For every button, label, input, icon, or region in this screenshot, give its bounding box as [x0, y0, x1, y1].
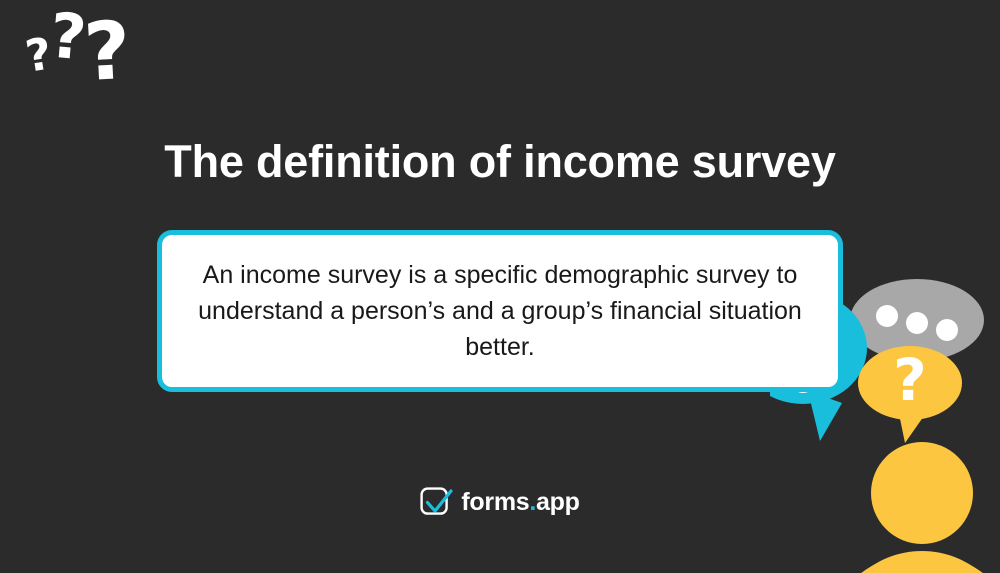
logo-suffix: app [536, 488, 580, 516]
question-mark-icon-large: ? [82, 11, 133, 93]
forms-app-checkbox-check-icon [420, 487, 451, 518]
orange-speech-bubble-icon: ? [858, 346, 962, 443]
definition-card: An income survey is a specific demograph… [157, 230, 843, 392]
page-title: The definition of income survey [0, 136, 1000, 188]
slide-canvas: ? ? ? The definition of income survey An… [0, 0, 1000, 573]
forms-app-wordmark: forms.app [461, 490, 579, 515]
definition-text: An income survey is a specific demograph… [162, 257, 838, 366]
logo-name: forms [461, 488, 529, 516]
svg-text:?: ? [893, 346, 927, 414]
forms-app-logo: forms.app [0, 487, 1000, 518]
decorative-question-marks: ? ? ? [0, 0, 200, 120]
